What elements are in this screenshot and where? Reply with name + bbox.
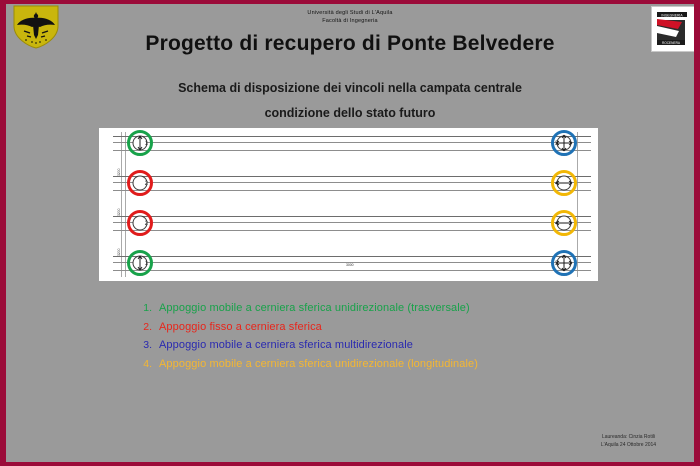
bearing-marker-right-2[interactable]: 4: [551, 170, 577, 196]
dimension-label: 3200: [117, 208, 121, 216]
university-header: Università degli Studi di L'Aquila Facol…: [6, 9, 694, 25]
legend-number: 1.: [134, 302, 152, 314]
girder-line: [113, 142, 591, 143]
bearing-number: 3: [555, 141, 558, 147]
bearing-number: 2: [145, 181, 148, 187]
bearing-marker-right-4[interactable]: 3: [551, 250, 577, 276]
girder-line: [113, 190, 591, 191]
bearing-number: 3: [555, 261, 558, 267]
slide-subtitle-line2: condizione dello stato futuro: [6, 106, 694, 120]
girder-line: [113, 176, 591, 177]
dimension-label: 3200: [117, 168, 121, 176]
author-credit: Laureanda: Cinzia Rotili: [566, 434, 691, 442]
legend-item-2: 2. Appoggio fisso a cerniera sferica: [134, 321, 594, 333]
slide-footer: Laureanda: Cinzia Rotili L'Aquila 24 Ott…: [566, 434, 691, 449]
bearing-marker-left-1[interactable]: 1: [127, 130, 153, 156]
girder-line: [113, 230, 591, 231]
girder-line: [113, 222, 591, 223]
slide-subtitle-line1: Schema di disposizione dei vincoli nella…: [6, 81, 694, 95]
girder-line: [113, 150, 591, 151]
legend-label: Appoggio mobile a cerniera sferica unidi…: [159, 302, 470, 314]
girder-line: [113, 136, 591, 137]
girder-line: [113, 270, 591, 271]
legend-item-4: 4. Appoggio mobile a cerniera sferica un…: [134, 358, 594, 370]
bearing-number: 4: [555, 181, 558, 187]
bearing-marker-left-4[interactable]: 1: [127, 250, 153, 276]
slide-title: Progetto di recupero di Ponte Belvedere: [6, 32, 694, 56]
legend-label: Appoggio fisso a cerniera sferica: [159, 321, 322, 333]
bearing-number: 1: [145, 141, 148, 147]
legend-item-3: 3. Appoggio mobile a cerniera sferica mu…: [134, 339, 594, 351]
bearing-number: 4: [555, 221, 558, 227]
bearing-marker-left-3[interactable]: 2: [127, 210, 153, 236]
girder-line: [113, 182, 591, 183]
bearing-marker-left-2[interactable]: 2: [127, 170, 153, 196]
presentation-slide: INGEGNERIA ROCENERA Università degli Stu…: [6, 4, 694, 462]
university-name: Università degli Studi di L'Aquila: [6, 9, 694, 17]
bearing-legend: 1. Appoggio mobile a cerniera sferica un…: [134, 302, 594, 376]
dimension-label: 3200: [117, 248, 121, 256]
bearing-number: 2: [145, 221, 148, 227]
legend-label: Appoggio mobile a cerniera sferica multi…: [159, 339, 413, 351]
legend-item-1: 1. Appoggio mobile a cerniera sferica un…: [134, 302, 594, 314]
girder-line: [113, 216, 591, 217]
faculty-name: Facoltà di Ingegneria: [6, 17, 694, 25]
bearing-layout-drawing: 3200 3200 3200 3000 1 2 2 1: [99, 128, 598, 281]
date-location: L'Aquila 24 Ottobre 2014: [566, 442, 691, 450]
girder-line: [113, 256, 591, 257]
bearing-marker-right-1[interactable]: 3: [551, 130, 577, 156]
legend-number: 2.: [134, 321, 152, 333]
center-dimension-label: 3000: [346, 263, 354, 267]
bearing-number: 1: [145, 261, 148, 267]
legend-label: Appoggio mobile a cerniera sferica unidi…: [159, 358, 478, 370]
legend-number: 3.: [134, 339, 152, 351]
bearing-marker-right-3[interactable]: 4: [551, 210, 577, 236]
legend-number: 4.: [134, 358, 152, 370]
